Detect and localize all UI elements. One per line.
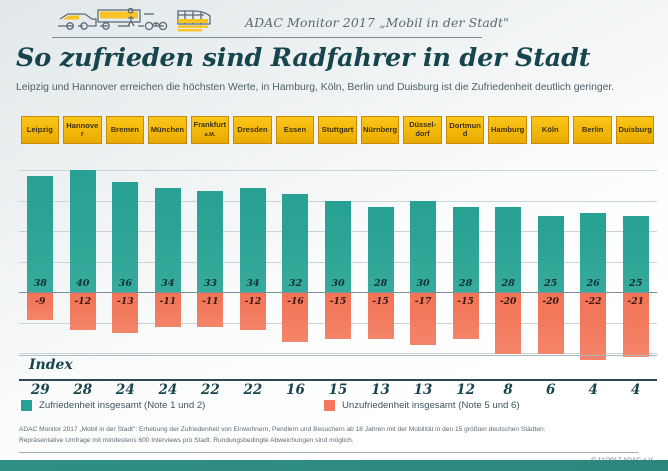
footnote-line-1: ADAC Monitor 2017 „Mobil in der Stadt": … [19,424,639,435]
footnote-rule [19,452,639,453]
bar-value-dissatisfied-4: -11 [197,296,223,307]
bar-value-dissatisfied-10: -15 [453,296,479,307]
city-label-text: Düssel-dorf [408,121,437,138]
bar-satisfied-2 [112,182,138,292]
index-value-3: 24 [147,382,190,398]
legend-item-satisfied: Zufriedenheit insgesamt (Note 1 und 2) [21,400,205,411]
infographic-page: ADAC Monitor 2017 „Mobil in der Stadt" S… [0,0,668,471]
footnote: ADAC Monitor 2017 „Mobil in der Stadt": … [19,424,639,447]
bar-value-satisfied-2: 36 [112,278,138,289]
bar-value-dissatisfied-0: -9 [27,296,53,307]
city-label-text: Dortmund [447,122,484,137]
bar-satisfied-5 [240,188,266,292]
city-label-text: Stuttgart [321,126,355,134]
city-label-n-rnberg[interactable]: Nürnberg [361,116,400,144]
bar-value-satisfied-13: 26 [580,278,606,289]
city-label-stuttgart[interactable]: Stuttgart [318,116,357,144]
index-value-10: 12 [444,382,487,398]
city-label-bremen[interactable]: Bremen [106,116,145,144]
bar-value-satisfied-10: 28 [453,278,479,289]
city-label-text: Bremen [110,126,140,134]
index-row: Index 29282424222216151313128644 [19,355,657,400]
bar-chart: 38-940-1236-1334-1133-1134-1232-1630-152… [19,152,657,357]
city-label-frankfurt-a-m[interactable]: Frankfurta.M. [191,116,230,144]
bar-satisfied-3 [155,188,181,292]
bar-value-dissatisfied-8: -15 [368,296,394,307]
index-value-1: 28 [62,382,105,398]
bar-value-satisfied-11: 28 [495,278,521,289]
city-label-k-ln[interactable]: Köln [531,116,570,144]
index-value-6: 16 [274,382,317,398]
bar-value-satisfied-8: 28 [368,278,394,289]
index-value-7: 15 [317,382,360,398]
legend-label-satisfied: Zufriedenheit insgesamt (Note 1 und 2) [39,400,205,411]
bar-satisfied-4 [197,191,223,292]
index-value-2: 24 [104,382,147,398]
city-label-text: München [150,126,185,134]
city-label-text: Essen [283,126,307,134]
gridline-40 [19,170,657,171]
city-label-text: Frankfurta.M. [193,121,227,138]
city-label-text: Hannover [64,122,101,137]
city-label-berlin[interactable]: Berlin [573,116,612,144]
index-value-14: 4 [614,382,657,398]
legend-swatch-coral [324,400,335,411]
legend-item-dissatisfied: Unzufriedenheit insgesamt (Note 5 und 6) [324,400,520,411]
bar-value-dissatisfied-1: -12 [70,296,96,307]
bar-value-satisfied-4: 33 [197,278,223,289]
city-label-essen[interactable]: Essen [276,116,315,144]
header-divider [52,37,482,38]
bar-satisfied-0 [27,176,53,292]
bar-value-dissatisfied-13: -22 [580,296,606,307]
bar-satisfied-1 [70,170,96,292]
zero-line [19,292,657,293]
index-value-9: 13 [402,382,445,398]
bar-value-dissatisfied-14: -21 [623,296,649,307]
city-label-leipzig[interactable]: Leipzig [21,116,60,144]
city-label-text: Nürnberg [362,126,398,134]
city-label-text: Leipzig [26,126,54,134]
city-label-text: Köln [541,126,560,134]
index-value-12: 6 [529,382,572,398]
bar-value-satisfied-9: 30 [410,278,436,289]
city-label-text: Duisburg [618,126,653,134]
legend-label-dissatisfied: Unzufriedenheit insgesamt (Note 5 und 6) [342,400,520,411]
city-label-m-nchen[interactable]: München [148,116,187,144]
bar-value-dissatisfied-2: -13 [112,296,138,307]
city-label-d-ssel-dorf[interactable]: Düssel-dorf [403,116,442,144]
bar-value-dissatisfied-3: -11 [155,296,181,307]
city-label-text: Dresden [236,126,268,134]
bar-value-dissatisfied-5: -12 [240,296,266,307]
city-label-text: Hamburg [490,126,525,134]
bar-value-dissatisfied-12: -20 [538,296,564,307]
index-value-4: 22 [189,382,232,398]
bar-value-dissatisfied-9: -17 [410,296,436,307]
index-value-11: 8 [487,382,530,398]
legend-swatch-teal [21,400,32,411]
index-label: Index [29,357,73,373]
bar-value-satisfied-3: 34 [155,278,181,289]
bar-value-satisfied-12: 25 [538,278,564,289]
page-subtitle: Leipzig und Hannover erreichen die höchs… [16,82,614,93]
city-label-row: LeipzigHannoverBremenMünchenFrankfurta.M… [19,116,657,146]
city-label-text: Berlin [581,126,605,134]
index-value-0: 29 [19,382,62,398]
index-value-5: 22 [232,382,275,398]
city-label-duisburg[interactable]: Duisburg [616,116,655,144]
bar-value-dissatisfied-6: -16 [282,296,308,307]
city-label-hannover[interactable]: Hannover [63,116,102,144]
bar-value-satisfied-1: 40 [70,278,96,289]
bar-value-satisfied-5: 34 [240,278,266,289]
bar-value-satisfied-14: 25 [623,278,649,289]
index-bottom-rule [19,379,657,381]
index-value-8: 13 [359,382,402,398]
mobility-logo-icon [52,6,242,36]
bar-value-satisfied-6: 32 [282,278,308,289]
header-logo-row: ADAC Monitor 2017 „Mobil in der Stadt" [52,6,652,40]
city-label-dortmund[interactable]: Dortmund [446,116,485,144]
page-title: So zufrieden sind Radfahrer in der Stadt [16,43,590,73]
bar-value-satisfied-7: 30 [325,278,351,289]
bottom-accent-bar [0,460,668,471]
index-value-13: 4 [572,382,615,398]
bar-value-satisfied-0: 38 [27,278,53,289]
bar-value-dissatisfied-7: -15 [325,296,351,307]
chart-legend: Zufriedenheit insgesamt (Note 1 und 2) U… [19,400,657,418]
bar-value-dissatisfied-11: -20 [495,296,521,307]
index-top-rule [19,355,657,356]
city-label-dresden[interactable]: Dresden [233,116,272,144]
brand-line: ADAC Monitor 2017 „Mobil in der Stadt" [245,15,509,30]
footnote-line-2: Repräsentative Umfrage mit mindestens 60… [19,435,639,446]
city-label-hamburg[interactable]: Hamburg [488,116,527,144]
